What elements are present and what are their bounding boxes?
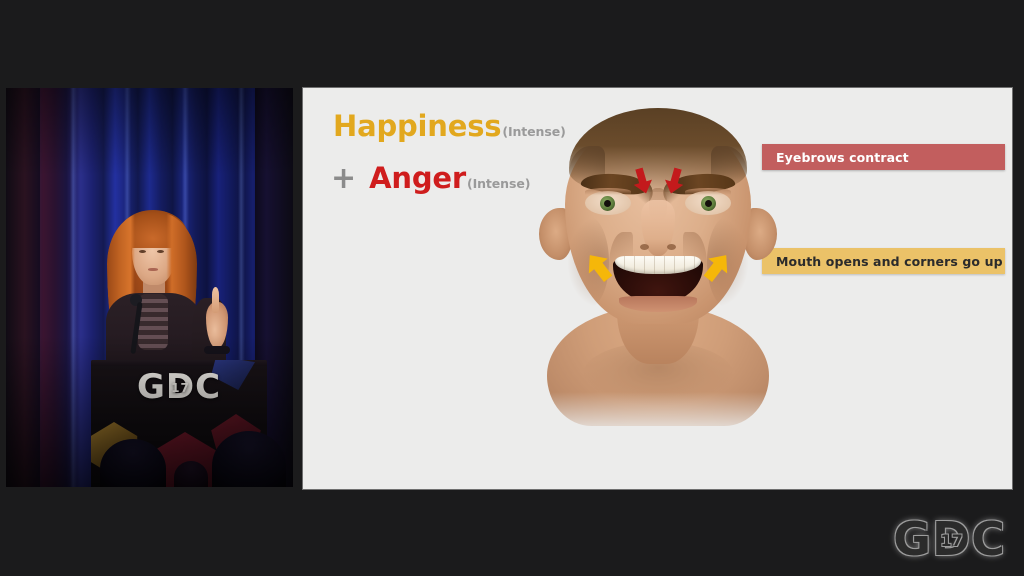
annotation-eyebrows-contract: Eyebrows contract bbox=[762, 144, 1005, 170]
annotation-mouth-opens: Mouth opens and corners go up bbox=[762, 248, 1005, 274]
emotion-line-anger: + Anger (Intense) bbox=[331, 164, 530, 194]
character-pupil-left bbox=[604, 200, 611, 207]
presentation-slide[interactable]: Happiness (Intense) + Anger (Intense) Ey… bbox=[303, 88, 1012, 489]
emotion-line-happiness: Happiness (Intense) bbox=[333, 112, 566, 141]
screen-background: GDCGD17C Happiness (Intense) + Anger (In… bbox=[0, 0, 1024, 576]
character-face-illustration bbox=[543, 92, 773, 442]
watermark-logo-d: D17 bbox=[932, 516, 971, 562]
speaker-video-panel[interactable]: GDCGD17C bbox=[6, 88, 293, 487]
emotion-label-anger: Anger bbox=[369, 164, 466, 193]
character-nostril-left bbox=[640, 244, 649, 250]
character-nostril-right bbox=[667, 244, 676, 250]
character-eyelid-right bbox=[685, 188, 731, 195]
character-eyelid-left bbox=[585, 188, 631, 195]
gdc-watermark-logo: GD17C bbox=[893, 516, 1006, 562]
character-pupil-right bbox=[705, 200, 712, 207]
emotion-qualifier-anger: (Intense) bbox=[467, 176, 530, 191]
plus-operator-icon: + bbox=[331, 164, 356, 194]
panel-vignette bbox=[6, 88, 293, 487]
watermark-year-badge: 17 bbox=[941, 533, 963, 549]
emotion-label-happiness: Happiness bbox=[333, 112, 501, 141]
illustration-bottom-fade bbox=[543, 392, 773, 448]
